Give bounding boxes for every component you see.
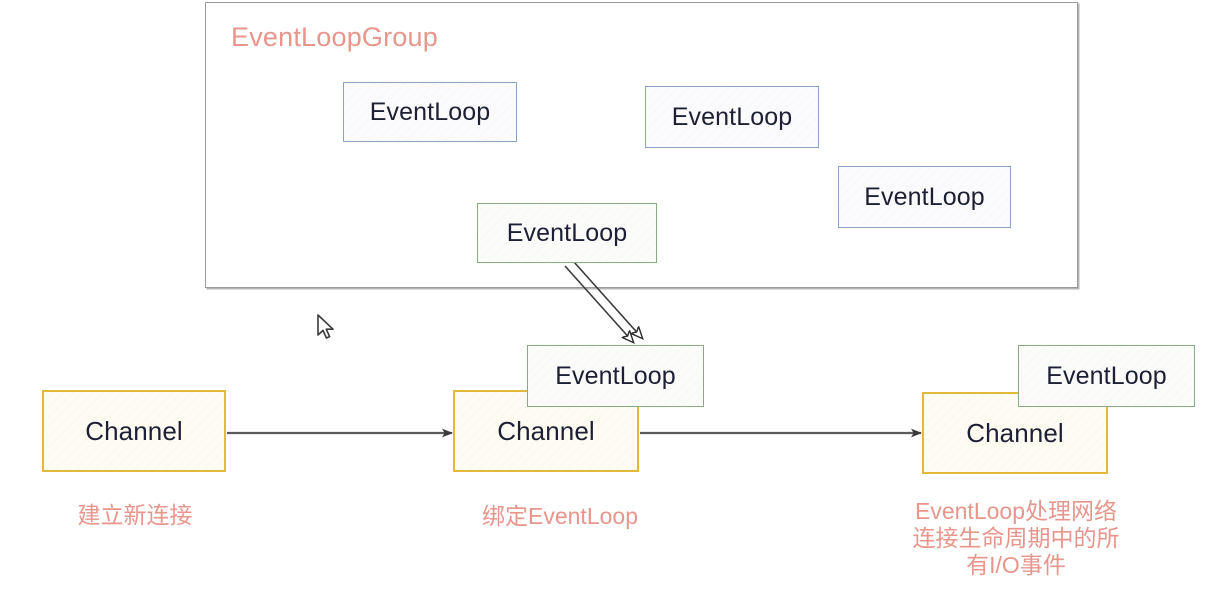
channel-label: Channel: [497, 416, 595, 447]
channel-label: Channel: [966, 418, 1064, 449]
event-loop-label: EventLoop: [370, 98, 490, 127]
diagram-canvas: EventLoopGroup EventLoopEventLoopEventLo…: [0, 0, 1208, 592]
event-loop-box: EventLoop: [645, 86, 819, 148]
caption-text: 建立新连接: [44, 502, 226, 529]
channel-label: Channel: [85, 416, 183, 447]
caption-text: EventLoop处理网络 连接生命周期中的所 有I/O事件: [896, 498, 1136, 579]
event-loop-label: EventLoop: [864, 183, 984, 212]
event-loop-label: EventLoop: [672, 103, 792, 132]
caption-text: 绑定EventLoop: [452, 503, 668, 530]
event-loop-box: EventLoop: [838, 166, 1011, 228]
event-loop-label: EventLoop: [507, 219, 627, 248]
mouse-cursor: [316, 314, 338, 342]
event-loop-label: EventLoop: [1046, 362, 1166, 391]
event-loop-box: EventLoop: [1018, 345, 1195, 407]
event-loop-box: EventLoop: [343, 82, 517, 142]
event-loop-group-title: EventLoopGroup: [231, 22, 438, 53]
event-loop-label: EventLoop: [555, 362, 675, 391]
event-loop-box: EventLoop: [477, 203, 657, 263]
channel-box: Channel: [42, 390, 226, 472]
event-loop-box: EventLoop: [527, 345, 704, 407]
